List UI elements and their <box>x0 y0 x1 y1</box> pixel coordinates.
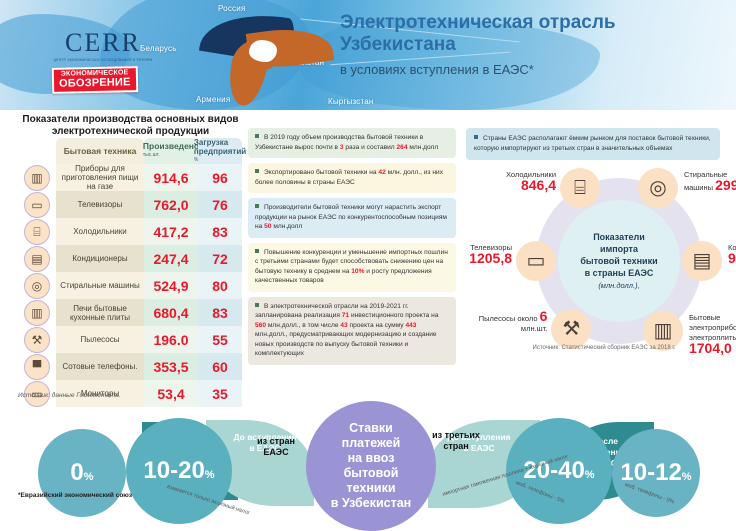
row-icon-cell: ◎ <box>18 272 56 299</box>
table-row: ▤Кондиционеры247,472 <box>18 245 242 272</box>
table-header-row: Бытовая техника Произведено тыс.шт. Загр… <box>18 138 242 164</box>
title-line1: Электротехническая отрасль <box>340 12 730 34</box>
row-category: Приборы для приготовления пищи на газе <box>56 164 144 191</box>
header-icon-spacer <box>18 138 56 164</box>
row-icon-cell: ⚒ <box>18 326 56 353</box>
origin-third-countries: из третьих стран <box>430 430 482 452</box>
row-produced: 196.0 <box>144 326 198 353</box>
import-node-tv: ▭ <box>516 241 556 281</box>
tariff-flow-diagram: После вступления в ЕАЭС 0% До вступления… <box>0 396 736 521</box>
rate-right-after-value: 10-12 <box>620 459 681 486</box>
center-line1: Показатели <box>593 232 645 242</box>
fridge-icon: ⌸ <box>574 178 586 198</box>
row-produced: 417,2 <box>144 218 198 245</box>
row-produced: 762,0 <box>144 191 198 218</box>
fridge-icon: ⌸ <box>24 219 50 245</box>
flow-center-line4: бытовой <box>344 466 399 480</box>
vacuum-icon: ⚒ <box>24 327 50 353</box>
import-node-label: Бытовые электроприборы, электроплиты 170… <box>689 313 736 356</box>
bullet-square-icon <box>255 204 259 208</box>
ac-icon: ▤ <box>693 251 712 271</box>
key-fact: Повышение конкуренции и уменьшение импор… <box>248 243 456 292</box>
import-node-vacuum: ⚒ <box>551 309 591 349</box>
row-load: 83 <box>198 299 242 326</box>
row-produced: 914,6 <box>144 164 198 191</box>
import-node-label: Пылесосы около 6 млн.шт. <box>477 311 547 334</box>
footnote: *Евразийский экономический союз <box>18 492 132 499</box>
tariff-center-circle: Ставки платежей на ввоз бытовой техники … <box>306 401 436 531</box>
bullet-square-icon <box>255 134 259 138</box>
washer-icon: ◎ <box>649 178 666 198</box>
row-category: Стиральные машины <box>56 272 144 299</box>
row-category: Кондиционеры <box>56 245 144 272</box>
row-category: Холодильники <box>56 218 144 245</box>
rate-left-after-value: 0 <box>70 459 83 486</box>
rate-left-after-pct: % <box>84 471 94 483</box>
row-icon-cell: ▀ <box>18 353 56 380</box>
title-subtitle: в условиях вступления в ЕАЭС* <box>340 62 730 77</box>
row-produced: 353,5 <box>144 353 198 380</box>
import-node-washer: ◎ <box>638 168 678 208</box>
row-produced: 247,4 <box>144 245 198 272</box>
flow-center-line3: на ввоз <box>348 451 395 465</box>
import-node-ac: ▤ <box>682 241 722 281</box>
header-produced-label: Произведено <box>143 141 199 151</box>
row-icon-cell: ▥ <box>18 164 56 191</box>
row-load: 76 <box>198 191 242 218</box>
row-load: 72 <box>198 245 242 272</box>
flow-center-line2: платежей <box>342 436 401 450</box>
bullet-square-icon <box>474 135 478 139</box>
import-node-value: 1704,0 <box>689 340 732 356</box>
vacuum-icon: ⚒ <box>562 319 580 339</box>
rate-right-after-pct: % <box>682 471 692 483</box>
import-node-value: 299,3 <box>715 177 736 193</box>
row-load: 60 <box>198 353 242 380</box>
page-title: Электротехническая отрасль Узбекистана в… <box>340 12 730 77</box>
row-icon-cell: ▤ <box>18 245 56 272</box>
header-load: Загрузка предприятий % <box>198 138 242 164</box>
import-node-value: 6 <box>540 308 548 324</box>
import-node-unit: млн.шт. <box>521 324 547 333</box>
import-node-label: Холодильники 846,4 <box>486 170 556 193</box>
import-node-fridge: ⌸ <box>560 168 600 208</box>
cerr-logo-subtitle: ЦЕНТР ЭКОНОМИЧЕСКИХ ИССЛЕДОВАНИЙ И РЕФОР… <box>48 58 158 63</box>
tv-icon: ▭ <box>24 192 50 218</box>
table-row: ⌸Холодильники417,283 <box>18 218 242 245</box>
header-produced: Произведено тыс.шт. <box>144 138 198 164</box>
import-diagram-center: Показатели импорта бытовой техники в стр… <box>558 200 680 322</box>
washer-icon: ◎ <box>24 273 50 299</box>
import-node-label: Стиральные машины 299,3 <box>684 170 736 193</box>
production-table-title: Показатели производства основных видов э… <box>18 114 243 138</box>
key-fact: В 2019 году объем производства бытовой т… <box>248 128 456 158</box>
header-banner: Россия Беларусь Казахстан Армения Кыргыз… <box>0 0 736 110</box>
eaeu-market-banner-text: Страны ЕАЭС располагают ёмким рынком для… <box>474 135 711 152</box>
row-load: 83 <box>198 218 242 245</box>
bullet-square-icon <box>255 169 259 173</box>
row-icon-cell: ⌸ <box>18 218 56 245</box>
row-icon-cell: ▭ <box>18 191 56 218</box>
rate-circle-left-before: 10-20% <box>126 418 232 524</box>
row-category: Пылесосы <box>56 326 144 353</box>
import-node-value: 958,6 <box>728 250 736 266</box>
rate-circle-left-after: 0% <box>38 429 126 517</box>
header-load-label: Загрузка предприятий <box>194 138 246 156</box>
row-load: 96 <box>198 164 242 191</box>
row-load: 80 <box>198 272 242 299</box>
table-row: ◎Стиральные машины524,980 <box>18 272 242 299</box>
center-line2: импорта <box>600 244 638 254</box>
cooker-icon: ▥ <box>654 321 673 341</box>
import-source: Источник: Статистический сборник ЕАЭС за… <box>533 345 676 351</box>
row-icon-cell: ▥ <box>18 299 56 326</box>
production-table: Бытовая техника Произведено тыс.шт. Загр… <box>18 138 242 407</box>
origin-eaeu-countries: из стран ЕАЭС <box>250 436 302 458</box>
tv-icon: ▭ <box>527 251 546 271</box>
import-node-name: Бытовые электроприборы, электроплиты <box>689 313 736 342</box>
table-row: ▀Сотовые телефоны.353,560 <box>18 353 242 380</box>
bullet-square-icon <box>255 249 259 253</box>
table-row: ▭Телевизоры762,076 <box>18 191 242 218</box>
oven-icon: ▥ <box>24 165 50 191</box>
center-line4: в страны ЕАЭС <box>585 268 654 278</box>
import-node-name: Пылесосы около <box>479 314 538 323</box>
badge-line2: ОБОЗРЕНИЕ <box>59 77 131 89</box>
import-node-label: Кондиционеры 958,6 <box>728 243 736 266</box>
cooker-icon: ▥ <box>24 300 50 326</box>
rate-circle-right-after: 10-12% <box>612 429 700 517</box>
phone-icon: ▀ <box>24 354 50 380</box>
cerr-logo: CERR ЦЕНТР ЭКОНОМИЧЕСКИХ ИССЛЕДОВАНИЙ И … <box>48 30 158 63</box>
row-category: Телевизоры <box>56 191 144 218</box>
import-node-value: 846,4 <box>521 177 556 193</box>
import-node-label: Телевизоры 1205,8 <box>446 243 512 266</box>
rate-left-before-pct: % <box>205 469 215 481</box>
flow-center-line1: Ставки <box>349 421 393 435</box>
bullet-square-icon <box>255 303 259 307</box>
flow-center-line6: в Узбекистан <box>331 496 411 510</box>
title-line2: Узбекистана <box>340 34 730 56</box>
key-fact: В электротехнической отрасли на 2019-202… <box>248 297 456 365</box>
table-row: ▥Печи бытовые кухонные плиты680,483 <box>18 299 242 326</box>
key-fact: Экспортировано бытовой техники на 42 млн… <box>248 163 456 193</box>
row-produced: 524,9 <box>144 272 198 299</box>
obozrenie-badge: ЭКОНОМИЧЕСКОЕ ОБОЗРЕНИЕ <box>52 66 138 94</box>
cerr-logo-text: CERR <box>48 30 158 56</box>
eaeu-emblem-icon <box>196 6 346 106</box>
center-line3: бытовой техники <box>580 256 657 266</box>
row-load: 55 <box>198 326 242 353</box>
table-row: ⚒Пылесосы196.055 <box>18 326 242 353</box>
table-row: ▥Приборы для приготовления пищи на газе9… <box>18 164 242 191</box>
key-facts-list: В 2019 году объем производства бытовой т… <box>248 128 456 370</box>
rate-right-before-pct: % <box>585 469 595 481</box>
key-fact: Производители бытовой техники могут нара… <box>248 198 456 238</box>
row-category: Сотовые телефоны. <box>56 353 144 380</box>
import-node-value: 1205,8 <box>469 250 512 266</box>
flow-center-line5: техники <box>346 481 395 495</box>
center-units: (млн.долл.), <box>598 281 639 290</box>
rate-left-before-value: 10-20 <box>143 457 204 484</box>
ac-icon: ▤ <box>24 246 50 272</box>
eaeu-market-banner: Страны ЕАЭС располагают ёмким рынком для… <box>466 128 720 160</box>
header-produced-unit: тыс.шт. <box>143 151 199 160</box>
row-category: Печи бытовые кухонные плиты <box>56 299 144 326</box>
row-produced: 680,4 <box>144 299 198 326</box>
header-category: Бытовая техника <box>56 138 144 164</box>
